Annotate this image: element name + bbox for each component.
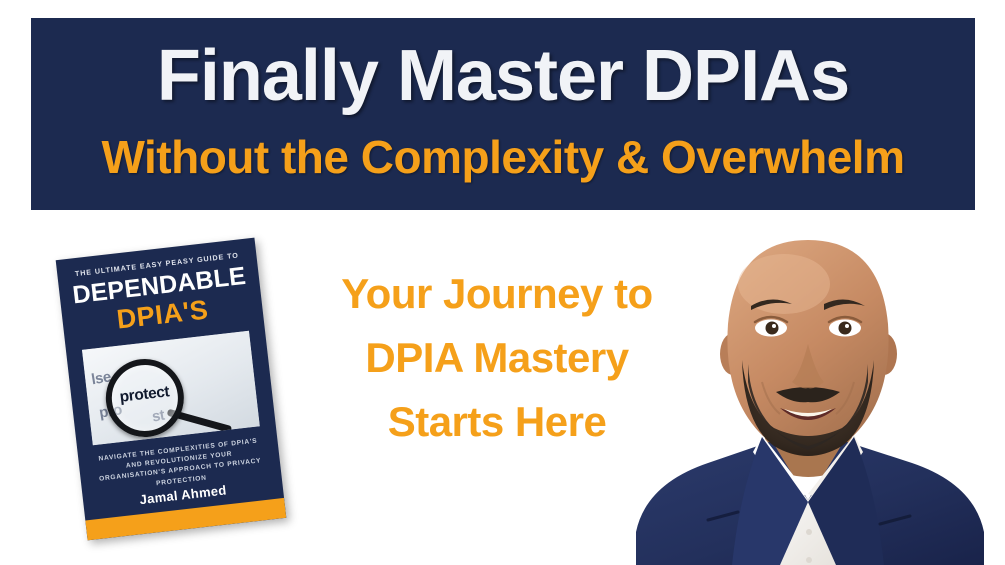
magnifier-word: protect — [112, 382, 178, 407]
presenter-portrait — [612, 232, 1005, 565]
book-cover-photo: lse pro st protect — [82, 331, 260, 445]
header-banner: Finally Master DPIAs Without the Complex… — [31, 18, 975, 210]
page-subtitle: Without the Complexity & Overwhelm — [101, 134, 904, 180]
presenter-portrait-illustration — [612, 232, 1005, 565]
book-cover: THE ULTIMATE EASY PEASY GUIDE TO DEPENDA… — [56, 238, 287, 541]
page-title: Finally Master DPIAs — [157, 40, 849, 112]
